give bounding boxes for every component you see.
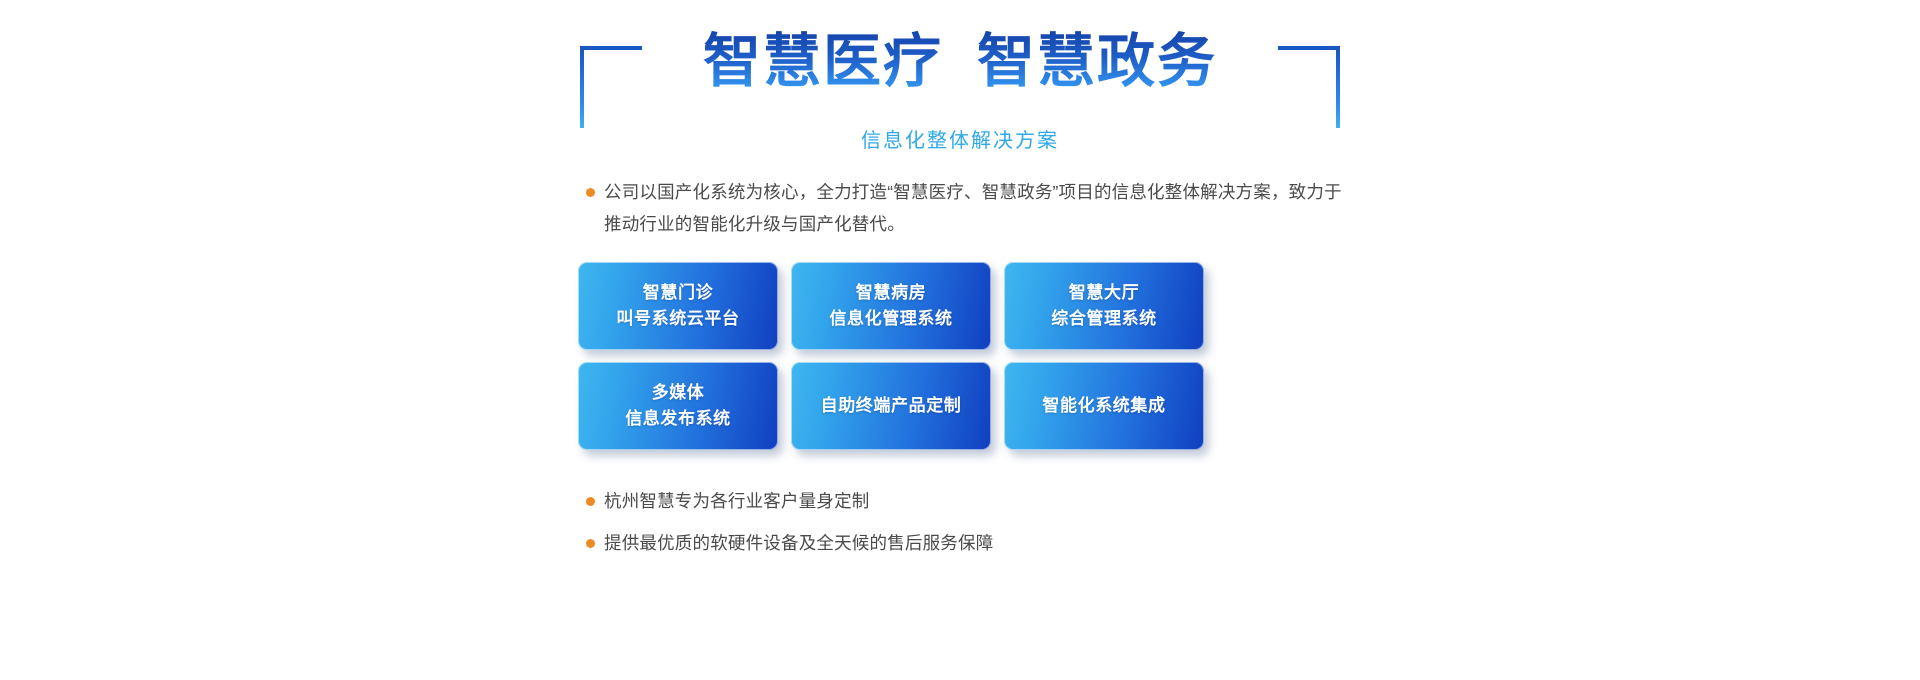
solution-card-line1: 智慧门诊	[643, 283, 713, 302]
solution-card-label: 智慧病房 信息化管理系统	[829, 280, 952, 332]
solution-card[interactable]: 智慧门诊 叫号系统云平台	[578, 262, 778, 350]
solution-card-line2: 信息发布系统	[625, 406, 731, 432]
bullet-dot-icon	[586, 539, 595, 548]
solution-card[interactable]: 智能化系统集成	[1004, 362, 1204, 450]
content-column: 智慧医疗智慧政务 信息化整体解决方案 公司以国产化系统为核心，全力打造“智慧医疗…	[570, 0, 1350, 680]
promo-banner: 智慧医疗智慧政务 信息化整体解决方案 公司以国产化系统为核心，全力打造“智慧医疗…	[0, 0, 1920, 680]
feature-bullet-text: 提供最优质的软硬件设备及全天候的售后服务保障	[604, 533, 993, 553]
solution-card-line1: 智能化系统集成	[1042, 396, 1165, 415]
feature-bullet-list: 杭州智慧专为各行业客户量身定制 提供最优质的软硬件设备及全天候的售后服务保障	[578, 480, 1338, 564]
intro-paragraph-text: 公司以国产化系统为核心，全力打造“智慧医疗、智慧政务”项目的信息化整体解决方案，…	[604, 182, 1342, 234]
hero-section: 智慧医疗智慧政务 信息化整体解决方案	[570, 20, 1350, 148]
solution-card[interactable]: 自助终端产品定制	[791, 362, 991, 450]
bullet-dot-icon	[586, 188, 595, 197]
bullet-dot-icon	[586, 497, 595, 506]
solution-card-line2: 信息化管理系统	[829, 306, 952, 332]
solution-card-label: 智能化系统集成	[1042, 393, 1165, 419]
solution-card-line1: 智慧病房	[856, 283, 926, 302]
page-title: 智慧医疗智慧政务	[570, 26, 1350, 98]
intro-paragraph: 公司以国产化系统为核心，全力打造“智慧医疗、智慧政务”项目的信息化整体解决方案，…	[578, 176, 1348, 240]
solution-card-line1: 自助终端产品定制	[821, 396, 962, 415]
solution-card-label: 多媒体 信息发布系统	[625, 380, 731, 432]
solution-card-line1: 智慧大厅	[1069, 283, 1139, 302]
title-segment-government: 智慧政务	[977, 29, 1217, 94]
solution-card-line2: 叫号系统云平台	[616, 306, 739, 332]
solution-card-label: 智慧门诊 叫号系统云平台	[616, 280, 739, 332]
title-segment-healthcare: 智慧医疗	[703, 29, 943, 94]
solution-card-line2: 综合管理系统	[1051, 306, 1157, 332]
page-subtitle-text: 信息化整体解决方案	[847, 130, 1073, 152]
solution-card-grid: 智慧门诊 叫号系统云平台 智慧病房 信息化管理系统 智慧大厅 综合管理系统 多媒…	[578, 262, 1204, 450]
page-subtitle: 信息化整体解决方案	[570, 128, 1350, 154]
solution-card[interactable]: 多媒体 信息发布系统	[578, 362, 778, 450]
feature-bullet-text: 杭州智慧专为各行业客户量身定制	[604, 491, 870, 511]
solution-card-line1: 多媒体	[652, 383, 705, 402]
solution-card-label: 智慧大厅 综合管理系统	[1051, 280, 1157, 332]
solution-card[interactable]: 智慧大厅 综合管理系统	[1004, 262, 1204, 350]
solution-card[interactable]: 智慧病房 信息化管理系统	[791, 262, 991, 350]
feature-bullet-item: 杭州智慧专为各行业客户量身定制	[578, 480, 1338, 522]
feature-bullet-item: 提供最优质的软硬件设备及全天候的售后服务保障	[578, 522, 1338, 564]
solution-card-label: 自助终端产品定制	[821, 393, 962, 419]
